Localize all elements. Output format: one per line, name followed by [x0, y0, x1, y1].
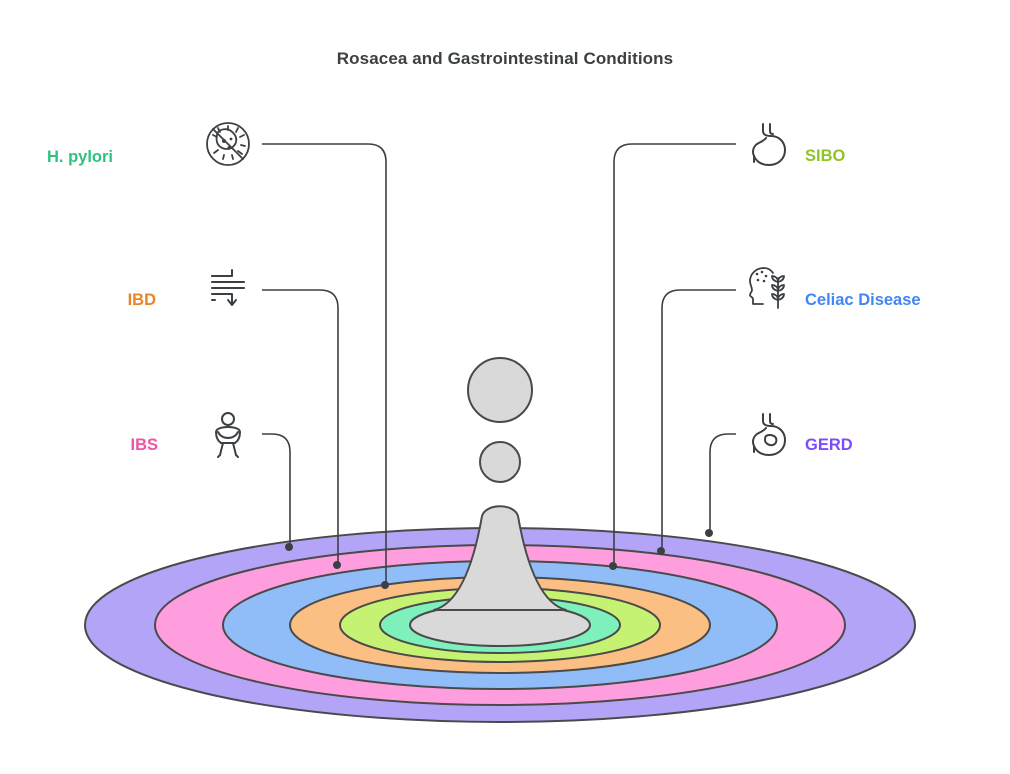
connector-celiac-disease	[662, 290, 736, 551]
bacteria-circle-icon	[202, 118, 254, 170]
label-ibd[interactable]: IBD	[0, 292, 156, 309]
connector-dot-celiac-disease	[657, 547, 665, 555]
connector-h-pylori	[262, 144, 386, 585]
intestine-arrow-icon	[202, 262, 254, 314]
connector-gerd	[710, 434, 736, 533]
connector-dot-ibd	[333, 561, 341, 569]
connector-dot-sibo	[609, 562, 617, 570]
stomach-icon	[742, 118, 794, 170]
connectors-layer	[0, 0, 1010, 774]
connector-sibo	[614, 144, 736, 566]
person-belly-icon	[202, 408, 254, 460]
head-wheat-icon	[742, 262, 794, 314]
diagram-canvas: Rosacea and Gastrointestinal Conditions …	[0, 0, 1010, 774]
connector-ibs	[262, 434, 290, 547]
label-h-pylori[interactable]: H. pylori	[0, 149, 113, 166]
connector-dot-ibs	[285, 543, 293, 551]
connector-dot-h-pylori	[381, 581, 389, 589]
connector-ibd	[262, 290, 338, 565]
connector-dot-gerd	[705, 529, 713, 537]
label-gerd[interactable]: GERD	[805, 437, 853, 454]
stomach-reflux-icon	[742, 408, 794, 460]
label-ibs[interactable]: IBS	[0, 437, 158, 454]
label-celiac-disease[interactable]: Celiac Disease	[805, 292, 921, 309]
label-sibo[interactable]: SIBO	[805, 148, 845, 165]
